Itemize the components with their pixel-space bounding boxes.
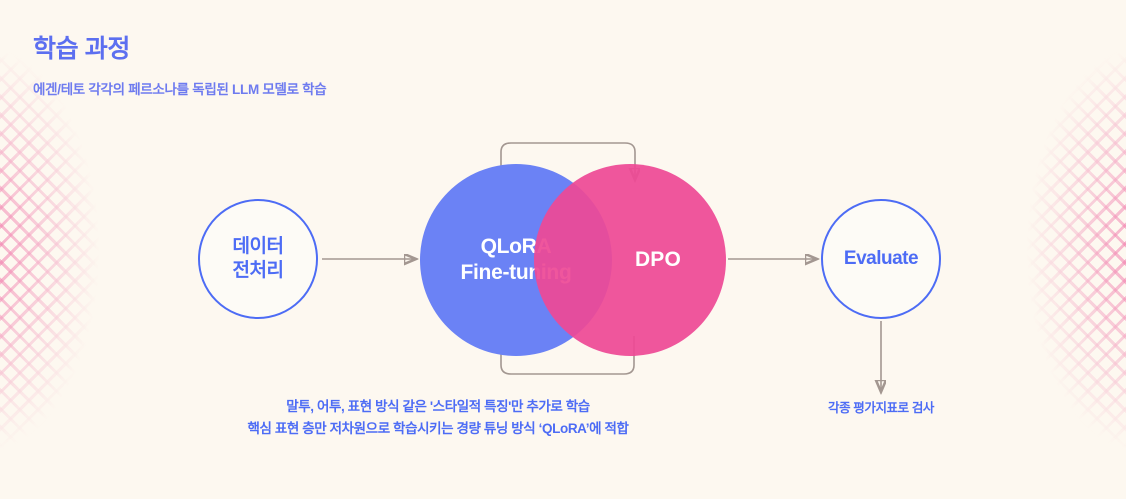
node-data-preprocessing-line1: 데이터 <box>233 236 284 257</box>
node-data-preprocessing[interactable]: 데이터 전처리 <box>198 199 318 319</box>
training-process-diagram: 데이터 전처리 QLoRA Fine-tuning DPO Evaluate 말… <box>0 0 1126 499</box>
node-evaluate[interactable]: Evaluate <box>821 199 941 319</box>
node-data-preprocessing-line2: 전처리 <box>233 260 284 281</box>
node-data-preprocessing-label: 데이터 전처리 <box>233 235 284 283</box>
node-evaluate-label: Evaluate <box>844 247 918 271</box>
node-dpo[interactable]: DPO <box>534 164 726 356</box>
node-dpo-label: DPO <box>635 247 681 273</box>
